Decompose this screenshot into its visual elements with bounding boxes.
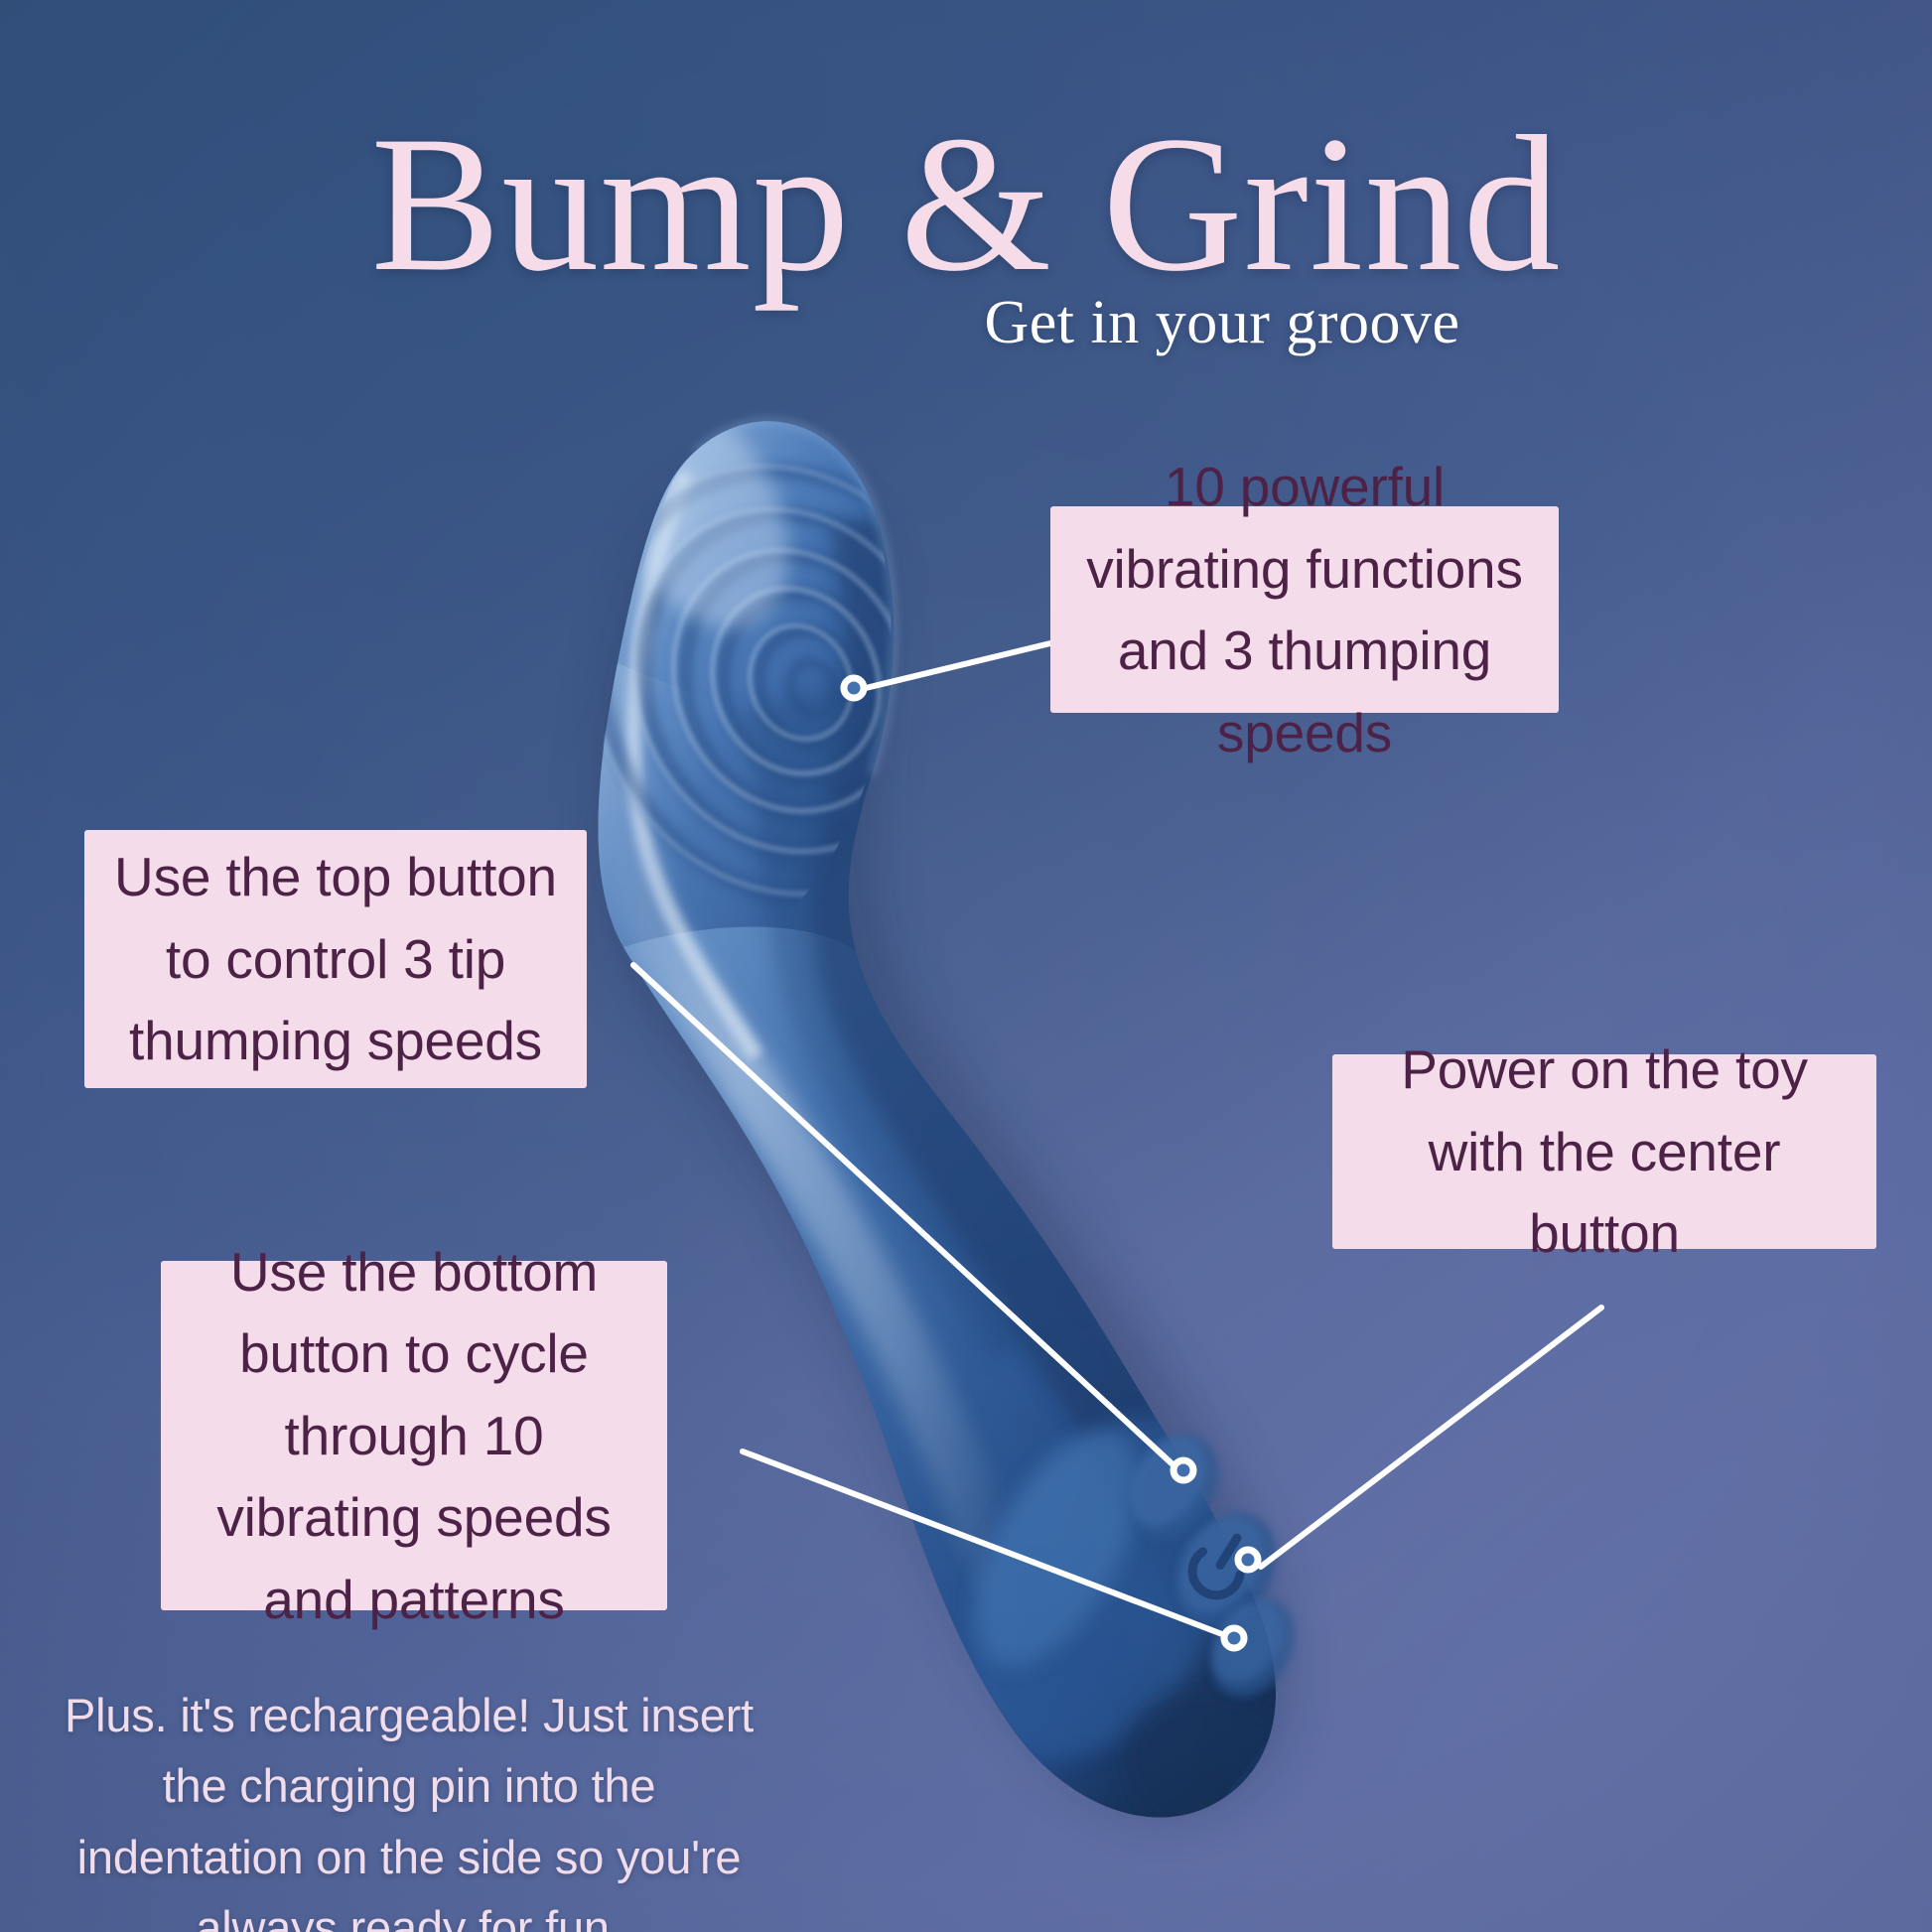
callout-top-button-text: Use the top button to control 3 tip thum… — [106, 836, 565, 1082]
callout-bottom-button-text: Use the bottom button to cycle through 1… — [183, 1231, 645, 1641]
footer-note: Plus. it's rechargeable! Just insert the… — [62, 1680, 757, 1932]
callout-power-button: Power on the toy with the center button — [1332, 1054, 1876, 1249]
infographic-canvas: Bump & Grind Get in your groove 10 power… — [0, 0, 1932, 1932]
callout-bottom-button: Use the bottom button to cycle through 1… — [161, 1261, 667, 1610]
callout-top-button: Use the top button to control 3 tip thum… — [84, 830, 587, 1088]
callout-vibrating-functions: 10 powerful vibrating functions and 3 th… — [1050, 506, 1559, 713]
callout-power-button-text: Power on the toy with the center button — [1354, 1029, 1855, 1275]
callout-vibrating-functions-text: 10 powerful vibrating functions and 3 th… — [1072, 446, 1537, 773]
